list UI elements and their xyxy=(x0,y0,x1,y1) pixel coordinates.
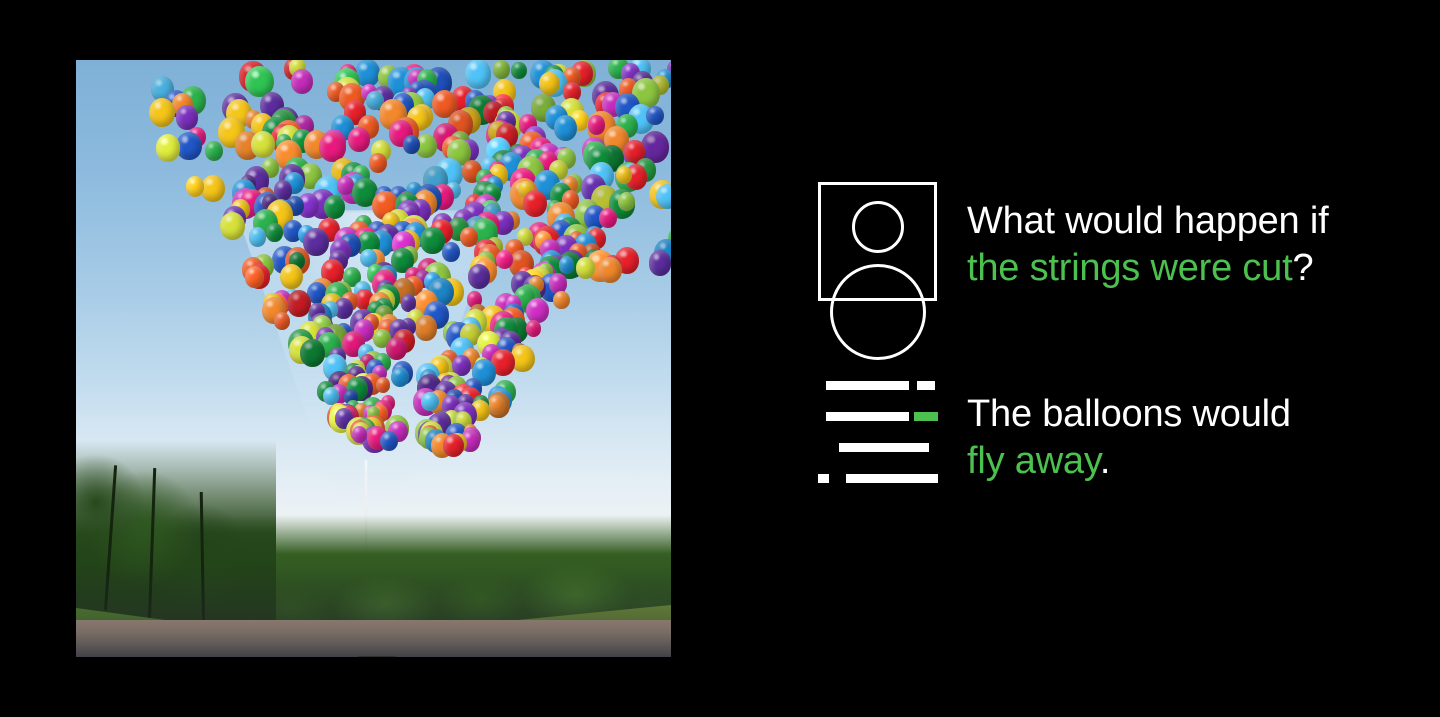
person-square-icon xyxy=(818,182,937,301)
balloon xyxy=(369,153,387,173)
user-message-text: What would happen ifthe strings were cut… xyxy=(967,182,1328,292)
balloon xyxy=(523,190,547,217)
balloon xyxy=(352,426,368,443)
balloon xyxy=(415,315,438,340)
assistant-line-2-highlight: fly away xyxy=(967,440,1100,482)
balloon xyxy=(442,242,460,262)
balloon xyxy=(539,72,560,96)
user-line-1: What would happen if xyxy=(967,200,1328,242)
balloon xyxy=(553,291,569,309)
balloon xyxy=(149,98,175,127)
balloon xyxy=(443,434,464,457)
balloon xyxy=(488,395,506,415)
balloon xyxy=(493,60,510,79)
balloon xyxy=(403,135,419,153)
balloon xyxy=(616,166,632,184)
balloon xyxy=(420,227,444,254)
balloon xyxy=(554,115,577,141)
balloon xyxy=(468,264,490,289)
slide-canvas: What would happen ifthe strings were cut… xyxy=(0,0,1440,717)
assistant-message-text: The balloons wouldfly away. xyxy=(967,373,1291,485)
assistant-message: The balloons wouldfly away. xyxy=(818,373,1378,491)
transcript-bar-7 xyxy=(846,474,938,483)
balloon xyxy=(559,256,575,274)
balloon xyxy=(291,69,313,94)
user-message: What would happen ifthe strings were cut… xyxy=(818,182,1378,301)
user-line-2-punctuation: ? xyxy=(1292,247,1313,289)
balloon xyxy=(280,264,303,289)
balloon-cluster xyxy=(76,60,671,454)
balloon xyxy=(526,298,549,323)
balloon xyxy=(220,212,245,240)
person-head-icon xyxy=(852,201,904,253)
balloon xyxy=(205,141,223,161)
balloon xyxy=(496,250,513,269)
transcript-bar-1 xyxy=(826,381,909,390)
balloon xyxy=(465,60,492,89)
balloon xyxy=(249,227,267,247)
balloon xyxy=(245,266,264,288)
road-shadow xyxy=(76,567,671,657)
person-shoulders-icon xyxy=(830,264,926,360)
balloon xyxy=(300,339,326,368)
balloon xyxy=(176,105,198,129)
balloon xyxy=(201,175,225,202)
balloon xyxy=(380,431,398,451)
balloon xyxy=(618,192,635,211)
balloon xyxy=(348,127,370,152)
balloon xyxy=(576,257,596,279)
balloon xyxy=(599,208,617,228)
balloon xyxy=(646,106,663,125)
transcript-bar-5 xyxy=(839,443,929,452)
balloon xyxy=(274,312,290,330)
transcript-bar-4 xyxy=(914,412,938,421)
balloon xyxy=(526,320,541,337)
assistant-line-1: The balloons would xyxy=(967,393,1291,435)
user-line-2-highlight: the strings were cut xyxy=(967,247,1292,289)
balloon xyxy=(251,131,275,158)
balloon xyxy=(156,134,181,162)
transcript-bars-icon xyxy=(818,373,942,491)
balloon-photo xyxy=(76,60,671,657)
assistant-line-2-punctuation: . xyxy=(1100,440,1110,482)
balloon xyxy=(649,250,671,276)
transcript-bar-6 xyxy=(818,474,829,483)
balloon xyxy=(376,377,390,393)
transcript-bar-3 xyxy=(826,412,909,421)
balloon xyxy=(266,223,283,241)
transcript-bar-2 xyxy=(917,381,935,390)
balloon xyxy=(186,176,205,197)
balloon xyxy=(511,62,527,80)
balloon xyxy=(324,195,346,219)
balloon xyxy=(598,257,622,284)
conversation-panel: What would happen ifthe strings were cut… xyxy=(818,182,1378,491)
balloon xyxy=(588,115,605,134)
